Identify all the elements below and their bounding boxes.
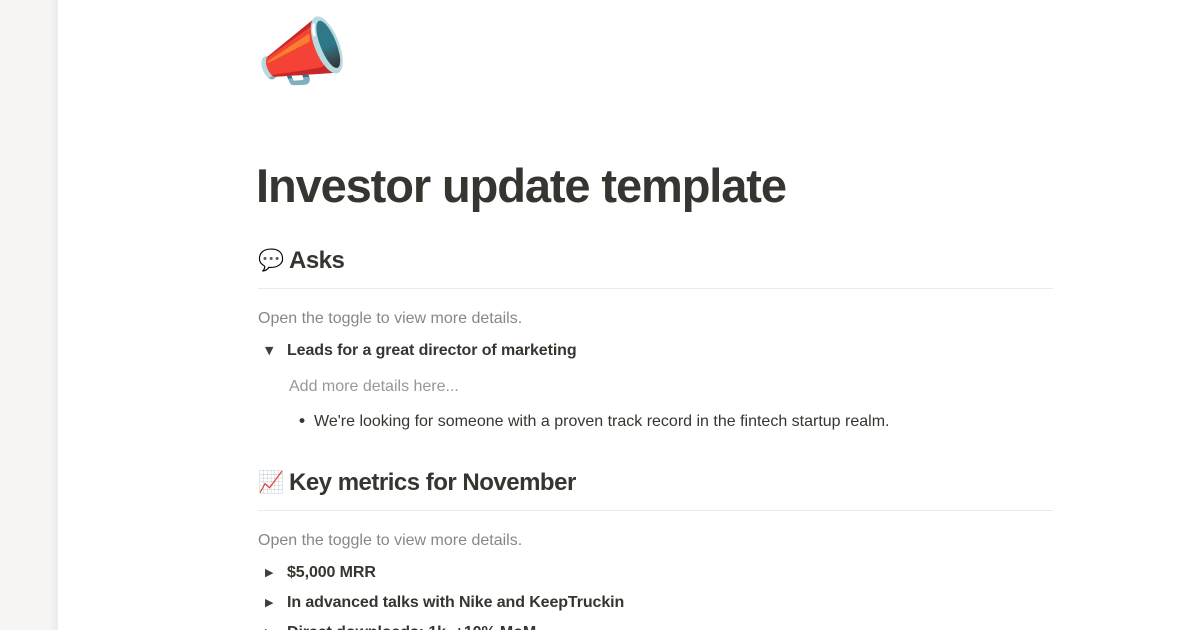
toggle-list: ▼Leads for a great director of marketing… [258,339,1053,434]
toggle-title[interactable]: In advanced talks with Nike and KeepTruc… [287,591,624,615]
triangle-right-icon[interactable]: ▶ [265,561,287,585]
chart-increasing-emoji: 📈 [258,472,280,493]
section-heading-text: Key metrics for November [289,468,576,498]
document-section: 📈Key metrics for NovemberOpen the toggle… [258,468,1053,630]
toggle-children: Add more details here...•We're looking f… [289,375,1053,434]
section-hint-text: Open the toggle to view more details. [258,307,1053,331]
list-item-text: We're looking for someone with a proven … [314,410,889,434]
megaphone-emoji[interactable]: 📣 [256,16,1053,112]
sections-container: 💬AsksOpen the toggle to view more detail… [258,246,1053,630]
section-divider [258,510,1053,511]
triangle-right-icon[interactable]: ▶ [265,621,287,630]
toggle-title[interactable]: Leads for a great director of marketing [287,339,577,363]
section-heading[interactable]: 💬Asks [258,246,1053,276]
bullet-marker-icon: • [297,410,314,434]
document-column: 📣 Investor update template 💬AsksOpen the… [258,0,1053,630]
triangle-down-icon[interactable]: ▼ [265,339,287,363]
page-content-area: 📣 Investor update template 💬AsksOpen the… [58,0,1200,630]
speech-balloon-emoji: 💬 [258,250,280,271]
list-item[interactable]: •We're looking for someone with a proven… [289,410,1053,434]
bulleted-list: •We're looking for someone with a proven… [289,410,1053,434]
toggle-block: ▶$5,000 MRR [258,561,1053,585]
page-title[interactable]: Investor update template [256,160,1053,212]
toggle-header[interactable]: ▶Direct downloads: 1k, +10% MoM [258,621,1053,630]
toggle-header[interactable]: ▼Leads for a great director of marketing [258,339,1053,363]
toggle-note-text[interactable]: Add more details here... [289,375,1053,399]
triangle-right-icon[interactable]: ▶ [265,591,287,615]
toggle-title[interactable]: $5,000 MRR [287,561,376,585]
toggle-list: ▶$5,000 MRR▶In advanced talks with Nike … [258,561,1053,630]
toggle-block: ▶In advanced talks with Nike and KeepTru… [258,591,1053,615]
sidebar-panel[interactable] [0,0,58,630]
section-heading[interactable]: 📈Key metrics for November [258,468,1053,498]
toggle-block: ▼Leads for a great director of marketing… [258,339,1053,434]
toggle-header[interactable]: ▶$5,000 MRR [258,561,1053,585]
toggle-header[interactable]: ▶In advanced talks with Nike and KeepTru… [258,591,1053,615]
section-hint-text: Open the toggle to view more details. [258,529,1053,553]
section-heading-text: Asks [289,246,344,276]
section-divider [258,288,1053,289]
toggle-block: ▶Direct downloads: 1k, +10% MoM [258,621,1053,630]
document-section: 💬AsksOpen the toggle to view more detail… [258,246,1053,434]
toggle-title[interactable]: Direct downloads: 1k, +10% MoM [287,621,536,630]
